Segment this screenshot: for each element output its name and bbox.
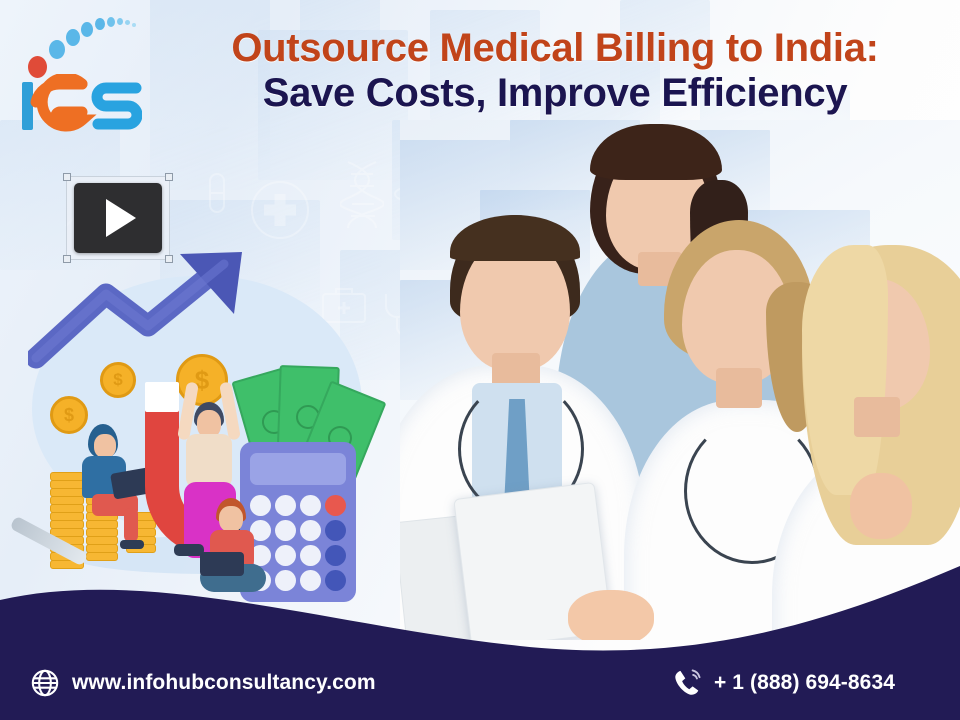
gold-coin: $ (50, 396, 88, 434)
phone-text: + 1 (888) 694-8634 (714, 671, 895, 695)
logo-dot (107, 17, 115, 27)
logo-dot (66, 29, 80, 46)
torso (186, 434, 232, 488)
capsule-icon (200, 170, 234, 216)
medical-cross-icon (248, 178, 312, 242)
play-triangle-icon (106, 199, 136, 237)
title-line-2: Save Costs, Improve Efficiency (170, 71, 940, 116)
logo-wordmark (20, 74, 142, 132)
title-line-1: Outsource Medical Billing to India: (170, 26, 940, 71)
savings-illustration: $ $ $ (28, 250, 408, 610)
logo-dot (81, 22, 93, 37)
footer-phone[interactable]: + 1 (888) 694-8634 (672, 668, 895, 698)
logo-dot (132, 23, 136, 27)
slide-canvas: Outsource Medical Billing to India: Save… (0, 0, 960, 720)
ics-logo[interactable] (8, 6, 140, 130)
head (94, 434, 116, 458)
logo-dot (49, 40, 65, 59)
calculator-screen (250, 453, 345, 485)
logo-dot (125, 20, 130, 25)
footer-website[interactable]: www.infohubconsultancy.com (30, 668, 376, 698)
logo-dot (95, 18, 105, 30)
website-text: www.infohubconsultancy.com (72, 671, 376, 695)
head (219, 506, 243, 532)
play-button[interactable] (74, 183, 162, 253)
resize-handle-tl[interactable] (63, 173, 71, 181)
hand (850, 473, 912, 539)
logo-dot (117, 18, 123, 25)
phone-icon (672, 668, 702, 698)
dna-icon (340, 158, 384, 232)
gold-coin: $ (100, 362, 136, 398)
globe-icon (30, 668, 60, 698)
slide-title: Outsource Medical Billing to India: Save… (170, 26, 940, 116)
video-play-control[interactable] (66, 176, 170, 260)
resize-handle-tr[interactable] (165, 173, 173, 181)
hair-front (802, 245, 888, 495)
